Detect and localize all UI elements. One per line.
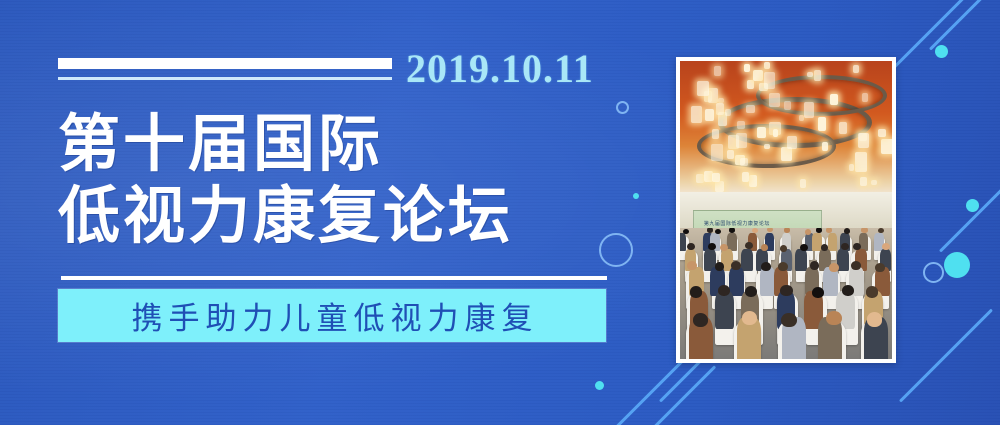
photo-ceiling-light [764,72,776,90]
photo-attendee-body [715,291,734,329]
conference-photo-frame: 第九届国际低视力康复论坛 [676,57,896,363]
photo-ceiling-light [764,144,770,149]
conference-photo: 第九届国际低视力康复论坛 [680,61,892,359]
photo-attendee-head [861,228,867,233]
photo-ceiling-light [858,133,870,148]
photo-ceiling-light [807,72,813,78]
photo-attendee-head [866,286,878,297]
photo-attendee-head [752,228,758,234]
photo-ceiling-light [691,106,702,123]
photo-attendee-head [687,243,695,250]
photo-ceiling-light [784,101,791,109]
photo-ceiling-light [839,122,847,134]
photo-attendee-head [745,286,757,297]
photo-attendee-head [718,285,730,296]
photo-attendee-head [812,287,824,298]
photo-ceiling-light [715,181,725,192]
photo-ceiling-light [716,103,724,115]
photo-ceiling-light [749,175,757,187]
photo-ceiling-light [769,93,780,107]
photo-attendee-head [826,228,832,233]
photo-ceiling-light [757,127,766,139]
photo-attendee-body [760,267,775,296]
photo-ceiling-light [764,62,770,69]
photo-ceiling-light [787,136,797,149]
photo-ceiling-light [696,174,703,183]
event-banner: 2019.10.11 第十届国际 低视力康复论坛 携手助力儿童低视力康复 第九届… [0,0,1000,425]
photo-ceiling-light [849,164,854,171]
photo-attendee-head [826,311,841,325]
photo-ceiling-light [708,88,718,103]
photo-ceiling-light [737,121,745,129]
photo-attendee-head [761,244,769,251]
event-date: 2019.10.11 [406,45,594,92]
photo-ceiling-light [714,66,721,76]
photo-attendee-head [693,313,708,327]
photo-attendee-head [707,228,713,233]
photo-attendee-body [680,233,686,251]
photo-attendee-head [742,311,757,325]
photo-ceiling-light [727,150,734,158]
photo-ceiling-light [881,139,892,154]
headline-block: 2019.10.11 第十届国际 低视力康复论坛 携手助力儿童低视力康复 [58,50,658,342]
rule-and-date-row: 2019.10.11 [58,50,658,98]
photo-ceiling-light [711,144,723,161]
photo-ceiling-light [697,81,708,96]
photo-attendee-body [795,249,807,271]
photo-ceiling-light [804,102,814,119]
photo-attendee-head [715,262,725,271]
photo-ceiling-light [853,65,859,74]
photo-ceiling-light [725,109,731,116]
event-title-line-2: 低视力康复论坛 [58,180,658,254]
photo-attendee-head [853,243,861,250]
photo-ceiling-light [712,129,719,139]
photo-attendee-head [683,229,689,235]
photo-ceiling-light [740,158,747,166]
photo-ceiling-light [860,177,867,186]
photo-ceiling-light [855,152,867,171]
photo-attendee-head [780,285,792,296]
photo-ceiling-light [818,117,826,131]
photo-attendee-head [784,228,790,233]
photo-ceiling-light [712,173,719,182]
photo-attendee-head [731,261,741,270]
photo-attendee-head [844,228,850,234]
photo-ceiling-light [862,93,868,102]
decorative-dot [966,199,979,212]
photo-attendee-head [800,244,808,251]
photo-attendee-head [715,229,721,235]
decorative-ring [923,262,944,283]
photo-attendee-head [842,285,854,296]
photo-ceiling-light [736,133,747,148]
photo-attendee-head [867,312,882,326]
photo-attendee-head [878,228,884,234]
decorative-dot [944,252,970,278]
photo-ceiling-light [742,172,749,182]
photo-ceiling-light [753,70,762,81]
photo-attendee-head [781,313,796,327]
photo-ceiling-light [878,129,886,137]
photo-attendee-head [805,229,811,235]
photo-ceiling-light [705,109,714,121]
event-title-line-1: 第十届国际 [58,108,658,182]
photo-ceiling-light [744,64,750,72]
photo-ceiling-light [773,129,778,137]
photo-attendee-body [828,233,837,251]
photo-audience [680,228,892,359]
photo-attendee-head [851,261,861,270]
photo-attendee-head [829,263,839,272]
photo-attendee-head [687,261,697,270]
photo-ceiling-light [800,179,806,188]
photo-attendee-head [821,244,829,251]
photo-attendee-head [780,245,788,252]
photo-attendee-head [720,244,728,251]
photo-attendee-head [690,286,702,297]
photo-attendee-head [816,228,822,233]
decorative-dot [935,45,948,58]
headline-rule-thick [58,58,392,69]
photo-stage-banner-text: 第九届国际低视力康复论坛 [704,220,770,227]
decorative-dot [595,381,604,390]
subtitle-banner: 携手助力儿童低视力康复 [58,289,606,342]
photo-attendee-head [882,243,890,250]
subtitle-rule [61,276,607,280]
photo-ceiling-light [814,70,821,81]
subtitle-text: 携手助力儿童低视力康复 [126,293,539,338]
headline-rule-thin [58,77,392,80]
photo-attendee-head [875,263,885,272]
photo-attendee-head [767,228,773,233]
photo-ceiling-light [746,105,755,113]
photo-attendee-head [778,262,788,271]
photo-attendee-head [708,243,716,250]
photo-ceiling-light [747,80,754,89]
photo-attendee-body [741,249,753,271]
photo-ceiling-light [822,142,828,151]
photo-attendee-head [841,243,849,250]
photo-ceiling-light [830,94,838,105]
